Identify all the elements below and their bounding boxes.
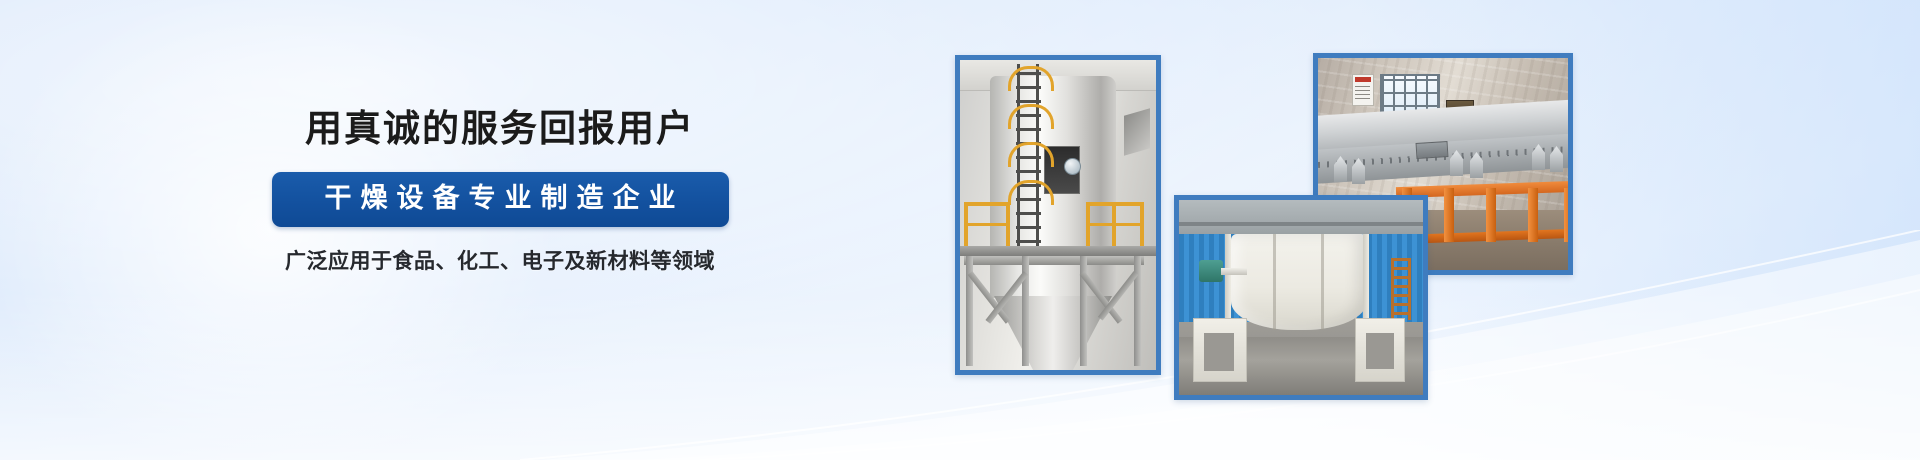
dryer-platform-railing-left [964,202,1010,248]
mixer-drive-shaft [1221,268,1247,275]
wooden-ladder [1391,258,1411,320]
photo-ribbon-mixer [1174,195,1428,400]
dryer-sight-glass [1064,158,1081,175]
safety-notice-sign [1352,74,1374,106]
dryer-air-duct [1124,108,1150,155]
dryer-platform-railing-right [1086,202,1144,248]
mixer-support-pedestal-right [1355,318,1405,382]
ribbon-mixer-drum [1231,234,1367,330]
photo-collage [0,0,1920,460]
photo-spray-dryer-tower [955,55,1161,375]
mixer-end-flange-right [1363,234,1369,326]
mixer-end-flange-left [1225,234,1231,326]
mixer-support-pedestal-left [1193,318,1247,382]
mixer-roof-truss [1179,222,1423,226]
fluid-bed-inspection-door [1416,141,1449,159]
mixer-drive-motor [1199,260,1223,282]
hero-banner: 用真诚的服务回报用户 干燥设备专业制造企业 广泛应用于食品、化工、电子及新材料等… [0,0,1920,460]
dryer-access-ladder [1012,64,1044,260]
mixer-workshop-roof [1179,200,1423,234]
dryer-work-platform [960,246,1156,256]
dryer-support-frame [964,256,1144,366]
